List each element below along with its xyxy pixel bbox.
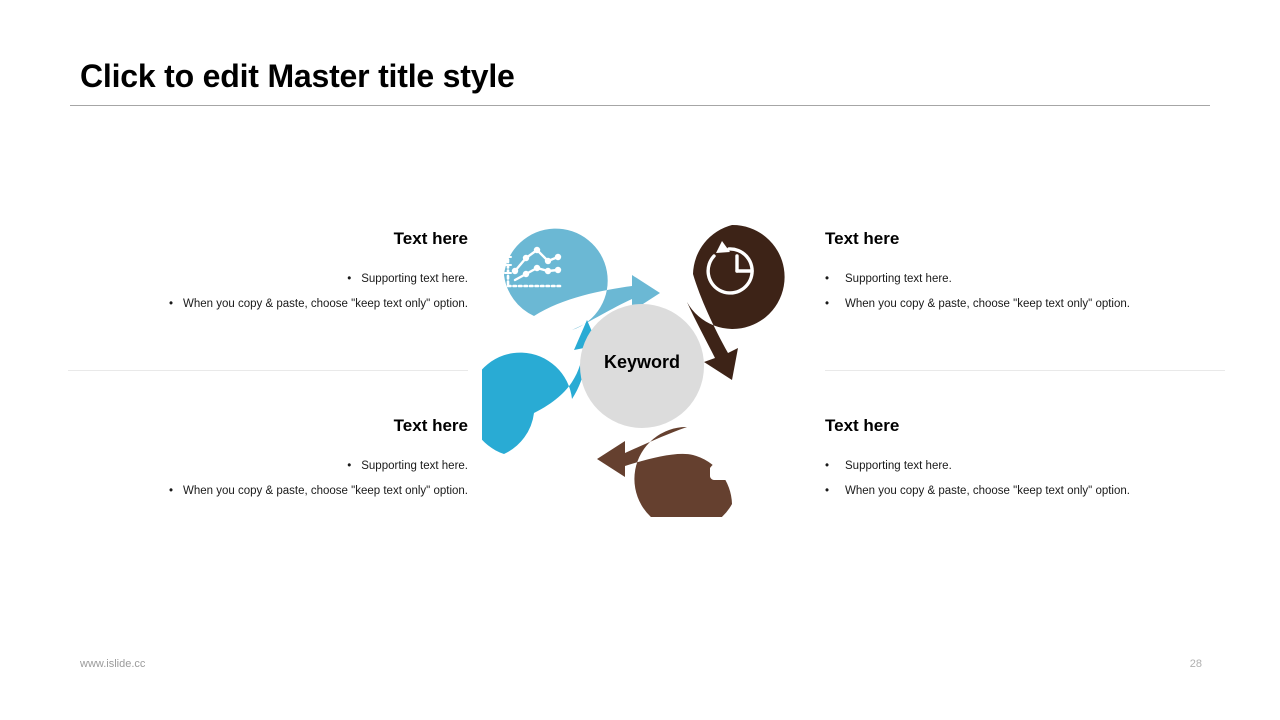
list-item: •When you copy & paste, choose "keep tex… [825, 483, 1225, 500]
list-item-text: When you copy & paste, choose "keep text… [183, 298, 468, 310]
bullet-list-top-right: •Supporting text here. •When you copy & … [825, 271, 1225, 313]
bullet-list-bottom-left: •Supporting text here. •When you copy & … [68, 458, 468, 500]
list-item-text: Supporting text here. [361, 273, 468, 285]
svg-text:$: $ [730, 432, 739, 449]
cycle-diagram: $ Keyword [482, 212, 802, 517]
block-heading-bottom-right: Text here [825, 417, 1225, 436]
footer-url[interactable]: www.islide.cc [80, 658, 145, 670]
list-item-text: When you copy & paste, choose "keep text… [183, 485, 468, 497]
bullet-marker: • [169, 485, 173, 497]
list-item: •When you copy & paste, choose "keep tex… [68, 296, 468, 313]
list-item: •Supporting text here. [68, 458, 468, 475]
list-item-text: When you copy & paste, choose "keep text… [845, 485, 1130, 497]
diagram-node-bottom-left[interactable] [482, 320, 600, 472]
text-block-top-left: Text here •Supporting text here. •When y… [68, 230, 468, 322]
text-block-bottom-left: Text here •Supporting text here. •When y… [68, 417, 468, 509]
list-item: •When you copy & paste, choose "keep tex… [825, 296, 1225, 313]
list-item: •Supporting text here. [68, 271, 468, 288]
page-title: Click to edit Master title style [80, 58, 515, 95]
block-heading-top-right: Text here [825, 230, 1225, 249]
bullet-marker: • [825, 458, 829, 475]
center-circle[interactable] [580, 304, 704, 428]
section-divider-left [68, 370, 468, 371]
page-number: 28 [1190, 658, 1202, 670]
bullet-marker: • [825, 296, 829, 313]
list-item: •Supporting text here. [825, 458, 1225, 475]
money-person-icon: $ [710, 423, 758, 480]
bullet-list-bottom-right: •Supporting text here. •When you copy & … [825, 458, 1225, 500]
list-item-text: When you copy & paste, choose "keep text… [845, 298, 1130, 310]
bullet-marker: • [825, 271, 829, 288]
list-item-text: Supporting text here. [845, 273, 952, 285]
list-item: •Supporting text here. [825, 271, 1225, 288]
list-item-text: Supporting text here. [845, 460, 952, 472]
block-heading-bottom-left: Text here [68, 417, 468, 436]
text-block-top-right: Text here •Supporting text here. •When y… [825, 230, 1225, 322]
bullet-marker: • [825, 483, 829, 500]
diagram-node-bottom-right[interactable]: $ [597, 423, 758, 517]
text-block-bottom-right: Text here •Supporting text here. •When y… [825, 417, 1225, 509]
list-item-text: Supporting text here. [361, 460, 468, 472]
list-item: •When you copy & paste, choose "keep tex… [68, 483, 468, 500]
bullet-list-top-left: •Supporting text here. •When you copy & … [68, 271, 468, 313]
title-divider [70, 105, 1210, 106]
block-heading-top-left: Text here [68, 230, 468, 249]
bullet-marker: • [347, 273, 351, 285]
section-divider-right [825, 370, 1225, 371]
bullet-marker: • [347, 460, 351, 472]
bullet-marker: • [169, 298, 173, 310]
